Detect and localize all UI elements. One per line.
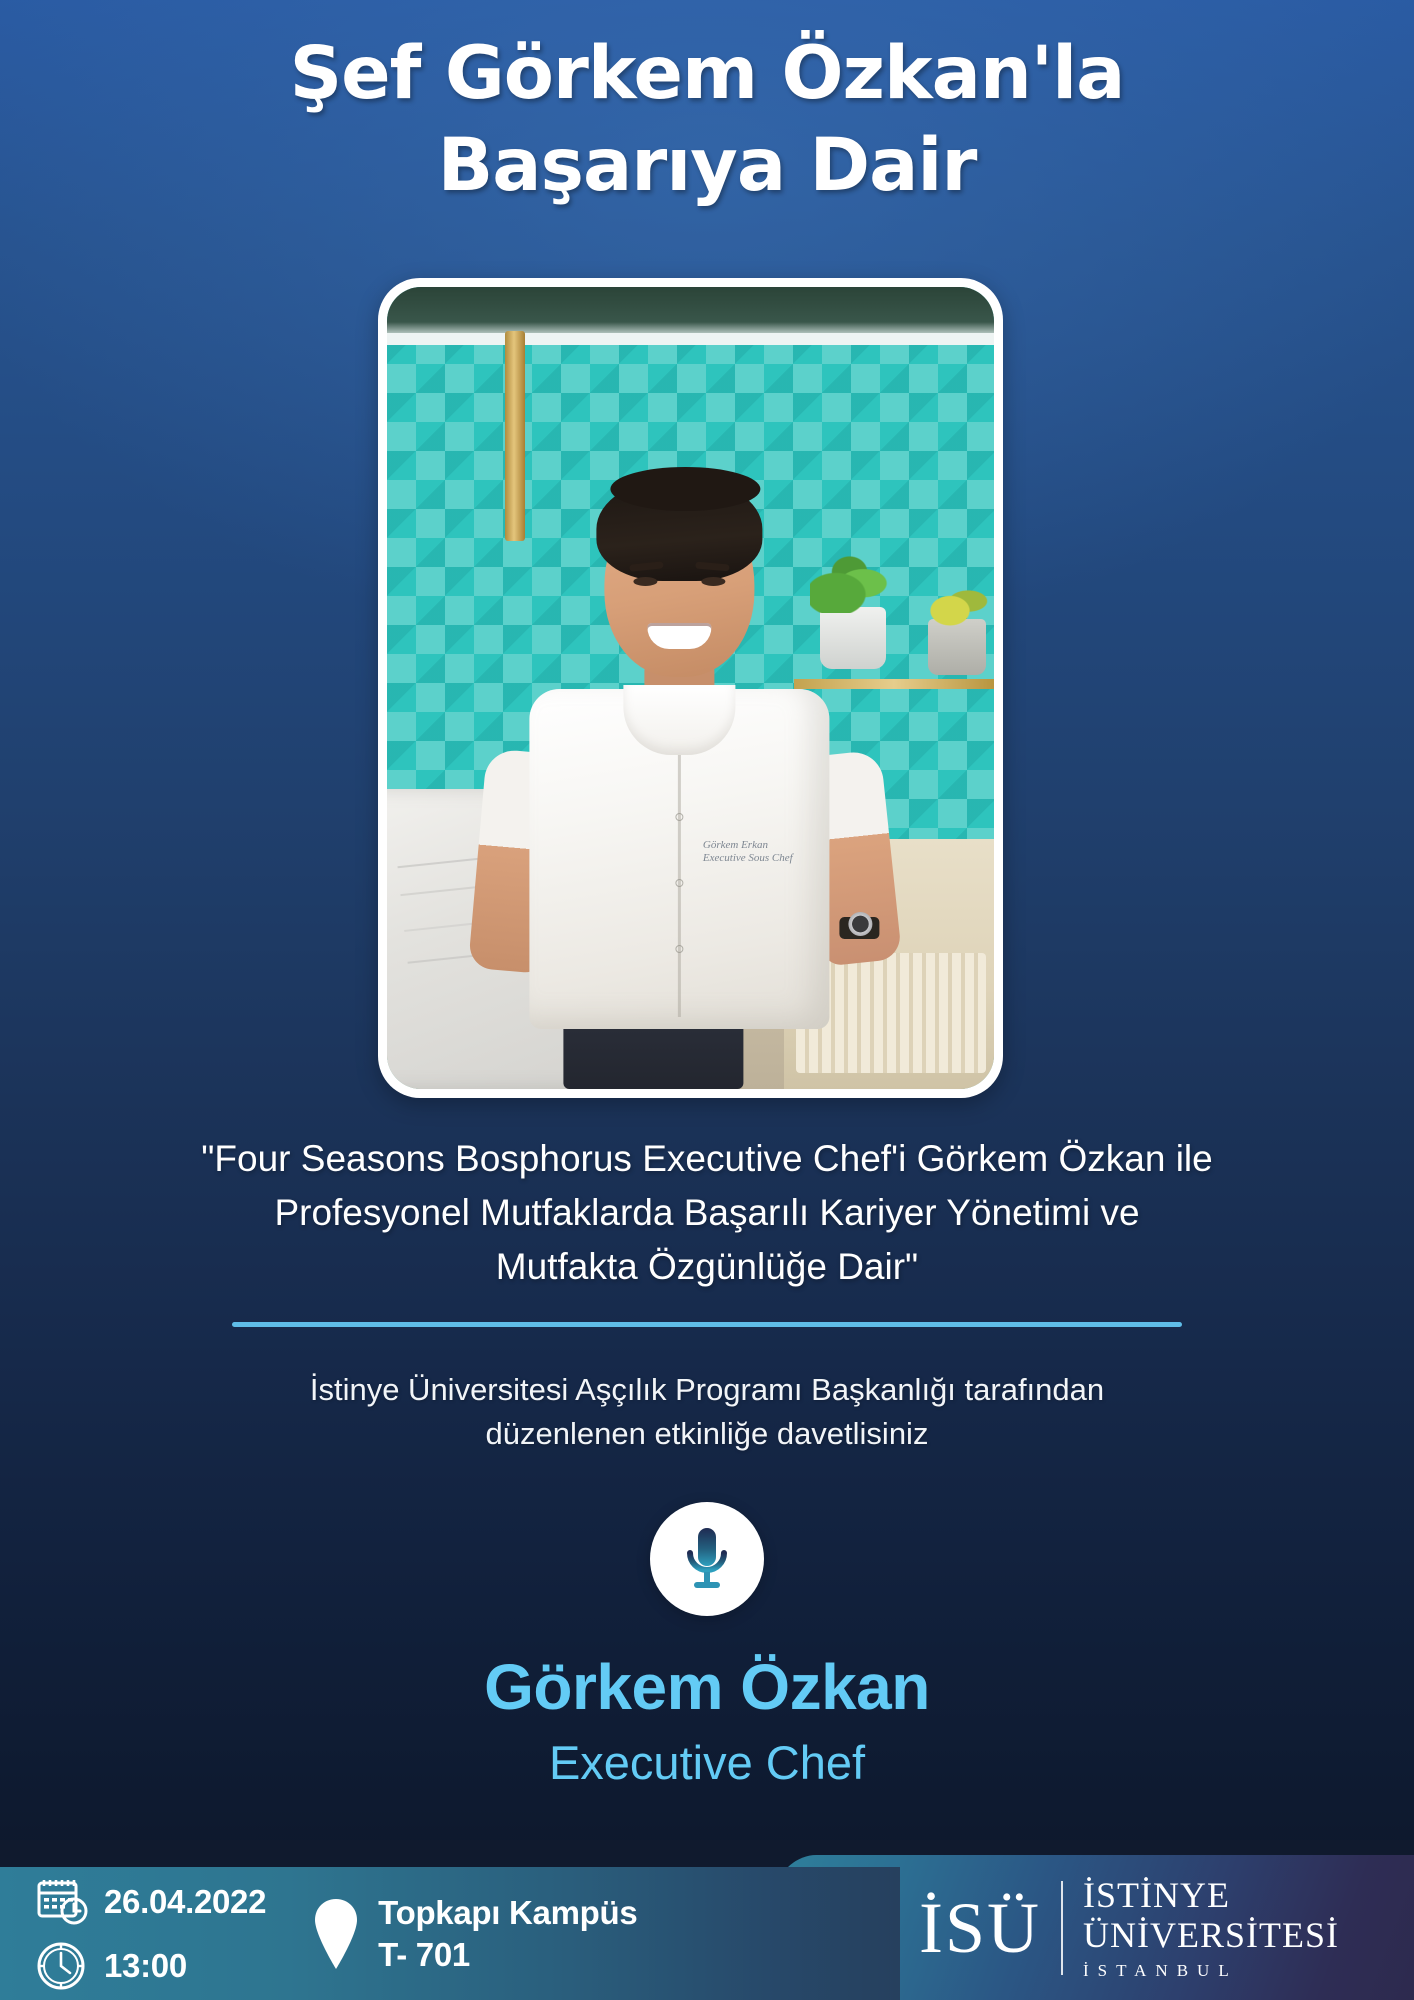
clock-icon [36, 1940, 92, 1992]
speaker-role: Executive Chef [0, 1735, 1414, 1790]
microphone-icon [682, 1526, 732, 1592]
logo-word-istanbul: İSTANBUL [1083, 1961, 1339, 1981]
invitation-text: İstinye Üniversitesi Aşçılık Programı Ba… [130, 1368, 1284, 1456]
speaker-photo-frame: Görkem ErkanExecutive Sous Chef [378, 278, 1003, 1098]
logo-wordmark: İSTİNYE ÜNİVERSİTESİ İSTANBUL [1083, 1875, 1339, 1981]
footer-datetime: 26.04.2022 13:00 [36, 1876, 266, 1992]
photo-jacket-embroidery: Görkem ErkanExecutive Sous Chef [703, 839, 793, 865]
invite-line-2: düzenlenen etkinliğe davetlisiniz [130, 1412, 1284, 1456]
photo-smile [647, 623, 711, 649]
photo-hair [596, 477, 762, 581]
photo-eye-left [633, 577, 657, 586]
speaker-name: Görkem Özkan [0, 1650, 1414, 1724]
photo-pendant-lamp [505, 331, 525, 541]
photo-plant-right [928, 619, 986, 675]
footer-venue-line1: Topkapı Kampüs [378, 1892, 637, 1934]
photo-jacket-button [675, 813, 683, 821]
quote-line-3: Mutfakta Özgünlüğe Dair" [60, 1240, 1354, 1294]
location-pin-icon [310, 1895, 362, 1973]
invite-line-1: İstinye Üniversitesi Aşçılık Programı Ba… [130, 1368, 1284, 1412]
photo-wristwatch [839, 917, 879, 939]
photo-collar [623, 685, 735, 755]
logo-divider [1061, 1881, 1063, 1975]
footer-time-row: 13:00 [36, 1940, 266, 1992]
title-line-2: Başarıya Dair [0, 120, 1414, 212]
footer-date: 26.04.2022 [104, 1883, 266, 1921]
university-logo: İSÜ İSTİNYE ÜNİVERSİTESİ İSTANBUL [919, 1875, 1339, 1981]
logo-mark: İSÜ [919, 1892, 1041, 1964]
section-divider [232, 1322, 1182, 1327]
event-description: "Four Seasons Bosphorus Executive Chef'i… [60, 1132, 1354, 1294]
photo-chef-jacket: Görkem ErkanExecutive Sous Chef [529, 689, 829, 1029]
photo-ledge [387, 333, 994, 345]
logo-word-universitesi: ÜNİVERSİTESİ [1083, 1915, 1339, 1955]
footer-date-row: 26.04.2022 [36, 1876, 266, 1928]
footer-venue-lines: Topkapı Kampüs T- 701 [378, 1892, 637, 1976]
event-poster: Şef Görkem Özkan'la Başarıya Dair [0, 0, 1414, 2000]
logo-word-istinye: İSTİNYE [1083, 1875, 1339, 1915]
footer-venue-line2: T- 701 [378, 1934, 637, 1976]
photo-upper-band [387, 287, 994, 337]
poster-title: Şef Görkem Özkan'la Başarıya Dair [0, 28, 1414, 212]
quote-line-2: Profesyonel Mutfaklarda Başarılı Kariyer… [60, 1186, 1354, 1240]
footer-venue: Topkapı Kampüs T- 701 [310, 1892, 637, 1976]
photo-jacket-button [675, 945, 683, 953]
quote-line-1: "Four Seasons Bosphorus Executive Chef'i… [60, 1132, 1354, 1186]
footer-time: 13:00 [104, 1947, 187, 1985]
speaker-photo: Görkem ErkanExecutive Sous Chef [387, 287, 994, 1089]
calendar-clock-icon [36, 1876, 92, 1928]
photo-jacket-button [675, 879, 683, 887]
photo-chef-figure: Görkem ErkanExecutive Sous Chef [467, 529, 897, 1089]
photo-eye-right [701, 577, 725, 586]
footer-logo-area: İSÜ İSTİNYE ÜNİVERSİTESİ İSTANBUL [754, 1855, 1414, 2000]
title-line-1: Şef Görkem Özkan'la [0, 28, 1414, 120]
microphone-badge [650, 1502, 764, 1616]
